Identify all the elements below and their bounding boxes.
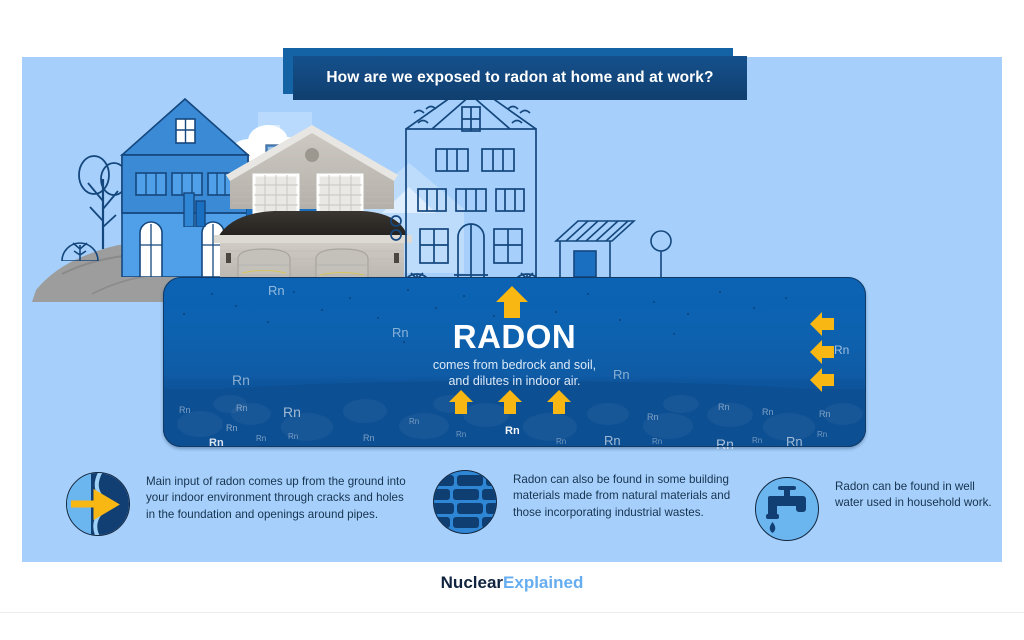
soil-speck [377, 317, 379, 319]
house-outline-right [386, 77, 556, 289]
brick-wall-icon [433, 470, 497, 534]
logo-primary: Nuclear [441, 573, 503, 592]
callout-building-materials-text: Radon can also be found in some building… [513, 470, 733, 521]
title-box: How are we exposed to radon at home and … [293, 56, 747, 100]
pebble [763, 413, 815, 441]
radon-subtitle-line1: comes from bedrock and soil, [163, 358, 866, 374]
arrow-left-icon [809, 311, 835, 337]
pebble [399, 413, 449, 439]
arrow-up-small-icon [448, 389, 474, 415]
arrow-up-large-icon [495, 285, 529, 319]
pebble [281, 413, 333, 441]
radon-subtitle-line2: and dilutes in indoor air. [163, 374, 866, 390]
pebble [643, 413, 693, 439]
faucet-water-icon [755, 477, 819, 541]
callout-foundation: Main input of radon comes up from the gr… [66, 472, 406, 536]
footer-logo: NuclearExplained [0, 573, 1024, 593]
pebble [707, 403, 753, 427]
page-title: How are we exposed to radon at home and … [326, 69, 713, 87]
pebble [663, 395, 699, 413]
soil-speck [753, 307, 755, 309]
soil-speck [407, 289, 409, 291]
soil-speck [653, 301, 655, 303]
callout-well-water-text: Radon can be found in well water used in… [835, 477, 995, 512]
soil-speck [687, 313, 689, 315]
chimney-pipes [180, 187, 210, 227]
crack-arrow-icon [66, 472, 130, 536]
infographic-page: How are we exposed to radon at home and … [0, 0, 1024, 640]
soil-speck [555, 311, 557, 313]
arrow-left-icon [809, 339, 835, 365]
soil-speck [293, 291, 295, 293]
house-gray-center [212, 125, 412, 290]
callout-well-water: Radon can be found in well water used in… [755, 477, 995, 541]
pebble [587, 403, 629, 425]
title-banner: How are we exposed to radon at home and … [283, 48, 747, 100]
shed-right-outline [552, 219, 638, 277]
callout-foundation-text: Main input of radon comes up from the gr… [146, 472, 406, 523]
pebble [213, 395, 247, 413]
soil-speck [435, 307, 437, 309]
pebble [523, 413, 577, 441]
soil-speck [349, 297, 351, 299]
soil-speck [719, 291, 721, 293]
pebble [177, 411, 223, 437]
pebble [343, 399, 387, 423]
radon-subtitle: comes from bedrock and soil, and dilutes… [163, 358, 866, 389]
callout-building-materials: Radon can also be found in some building… [433, 470, 733, 534]
logo-secondary: Explained [503, 573, 583, 592]
soil-speck [211, 293, 213, 295]
arrow-up-small-icon [497, 389, 523, 415]
soil-speck [183, 313, 185, 315]
pebble [823, 403, 863, 425]
soil-speck [235, 305, 237, 307]
footer-divider [0, 612, 1024, 613]
soil-speck [321, 309, 323, 311]
arrow-left-icon [809, 367, 835, 393]
radon-text-block: RADON comes from bedrock and soil, and d… [163, 320, 866, 389]
soil-speck [587, 293, 589, 295]
arrow-up-small-icon [546, 389, 572, 415]
soil-speck [785, 297, 787, 299]
soil-speck [463, 295, 465, 297]
underground-panel: RADON comes from bedrock and soil, and d… [163, 277, 866, 447]
radon-heading: RADON [163, 320, 866, 353]
